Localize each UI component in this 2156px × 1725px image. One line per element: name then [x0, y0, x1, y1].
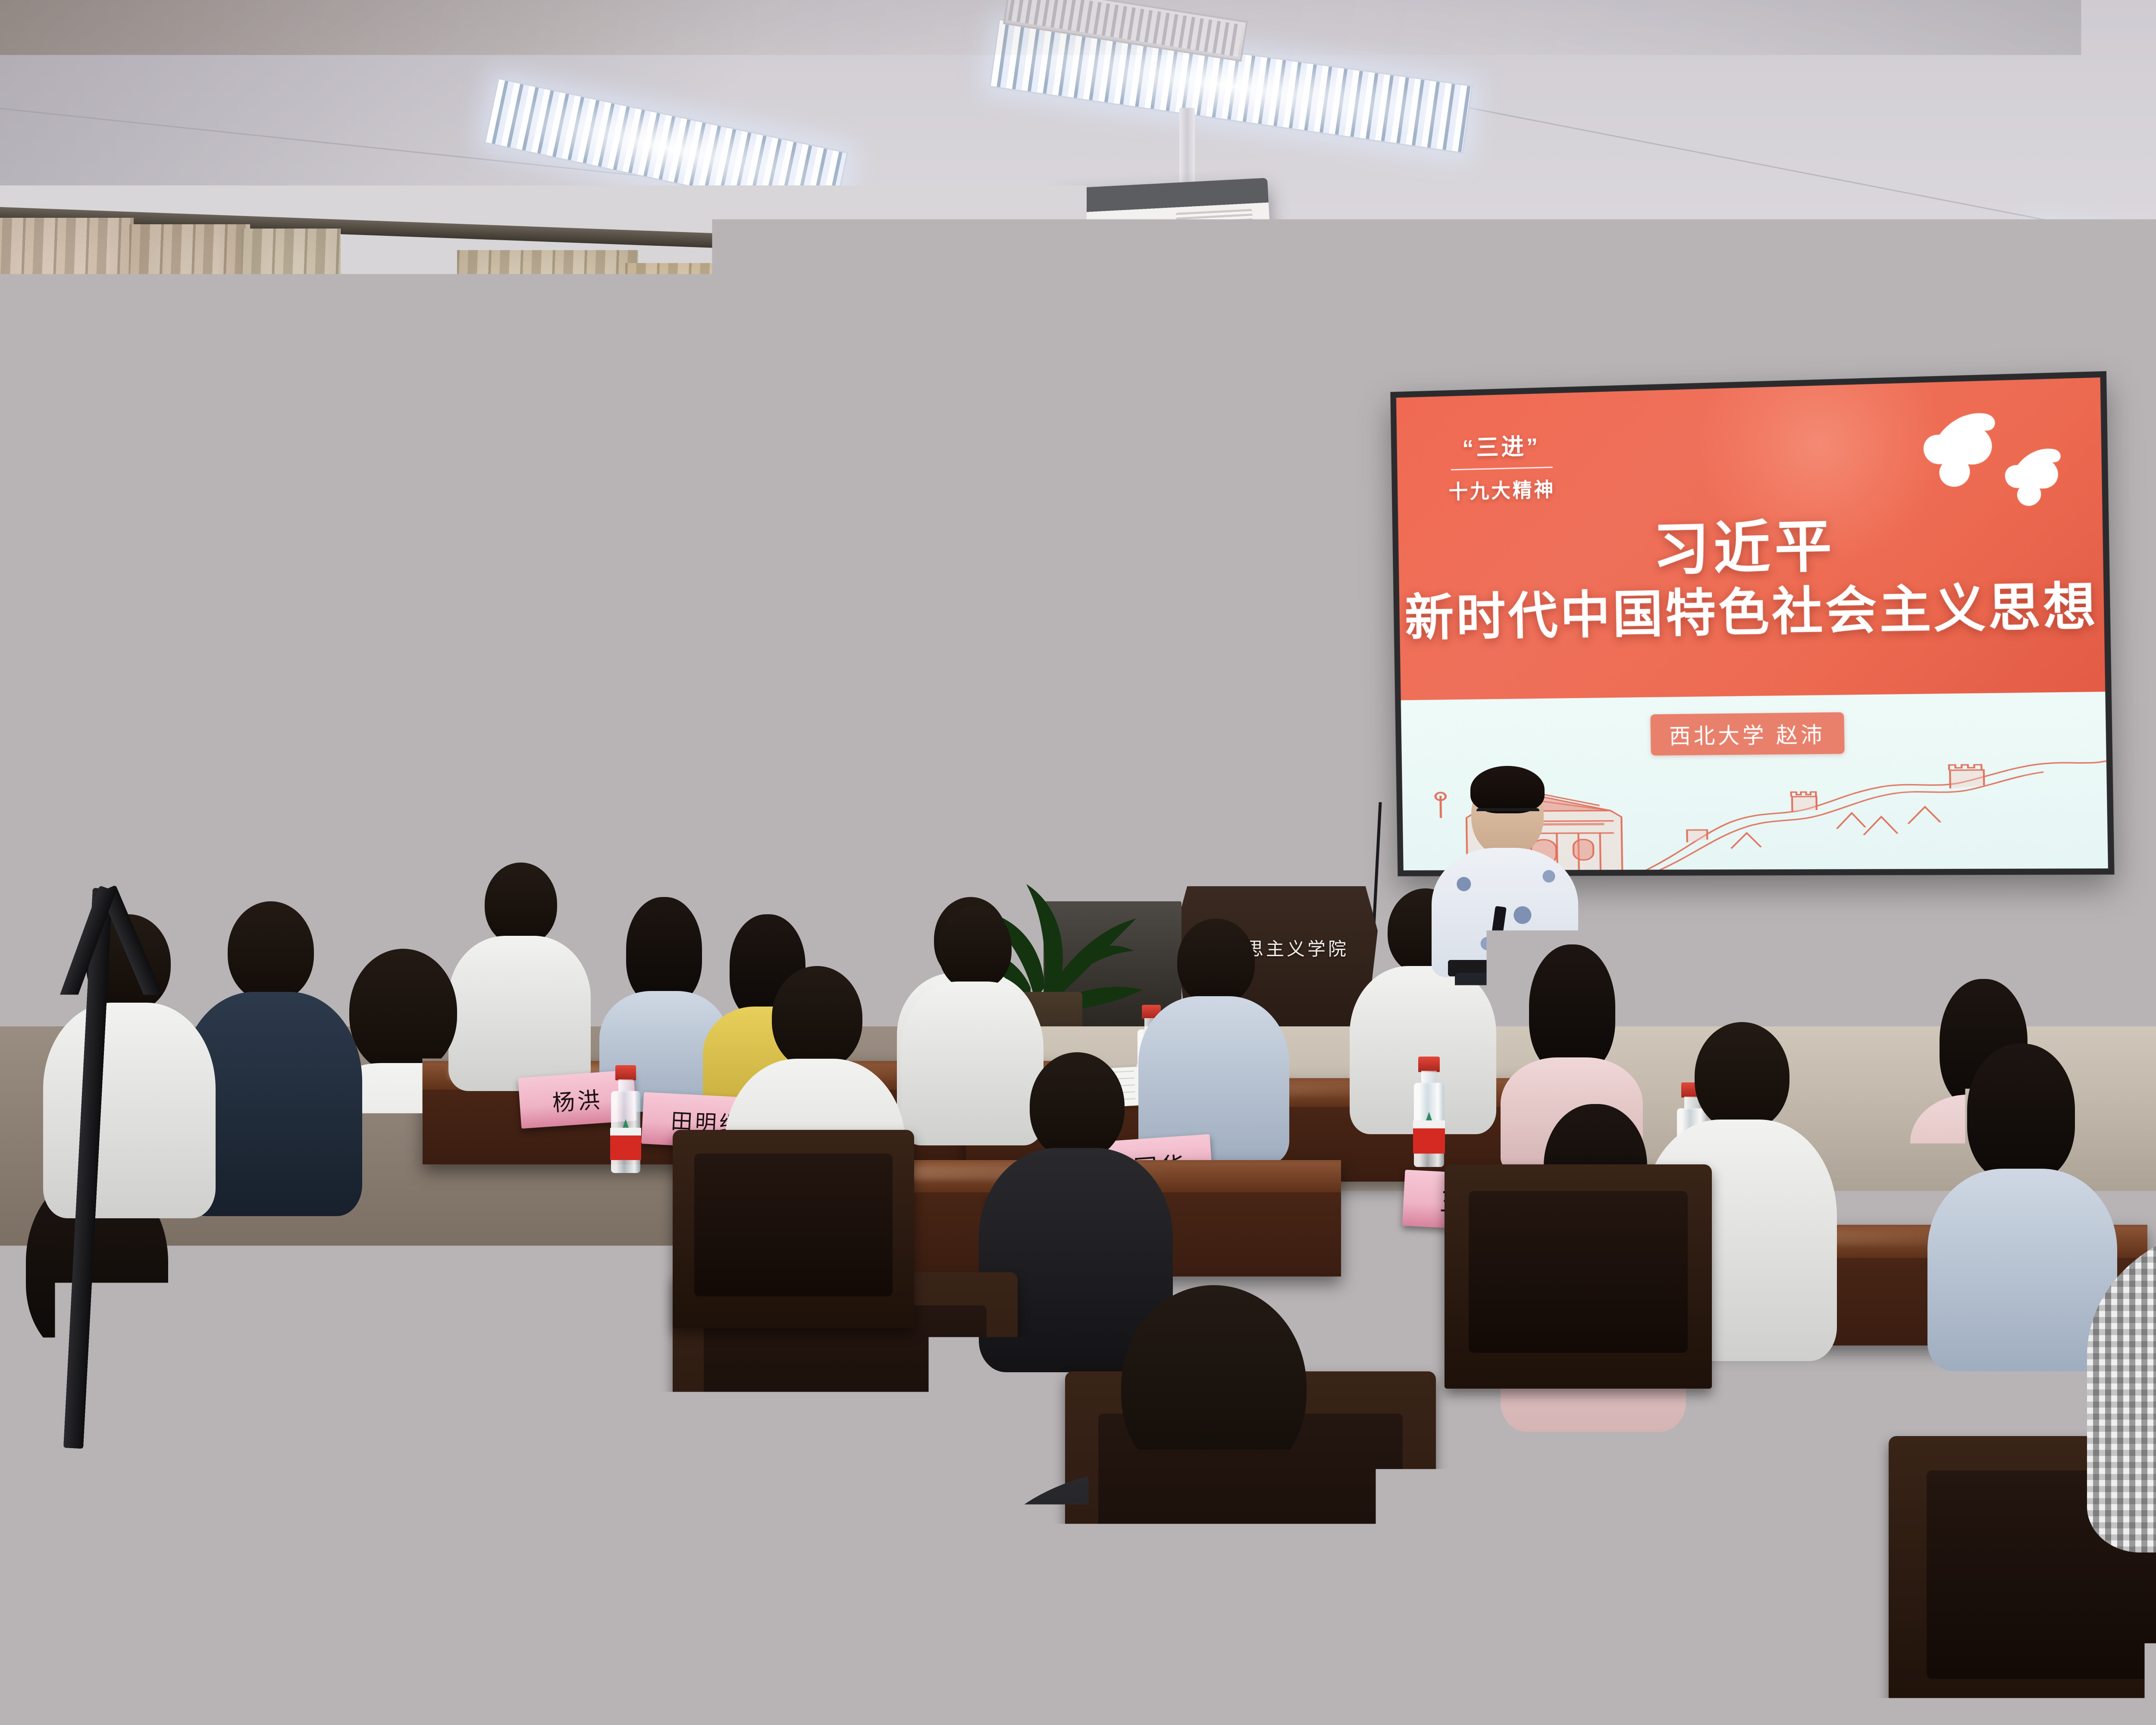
chair[interactable] — [673, 1130, 914, 1328]
attendee-foreground — [0, 1173, 267, 1725]
attendee-foreground — [2087, 1069, 2156, 1544]
lecture-hall-photo: “三进” 十九大精神 习近平 新时代中国特色社会主义思想 西北大学 赵沛 — [0, 0, 2156, 1725]
slide-kicker-rule — [1451, 467, 1553, 470]
tripod-head — [60, 811, 185, 897]
slide-title-line-2: 新时代中国特色社会主义思想 — [1399, 565, 2104, 650]
tea-bottle — [556, 1367, 623, 1540]
glasses-icon — [1476, 808, 1539, 819]
camera-lcd-screen — [110, 639, 185, 698]
record-indicator-icon — [153, 624, 164, 636]
presenter — [1432, 772, 1578, 1082]
presenter-hair — [1470, 766, 1545, 813]
slide-kicker-top: “三进” — [1448, 427, 1555, 463]
attendee-foreground — [979, 1285, 1445, 1725]
camera-lens-icon — [129, 686, 289, 811]
presenter-trousers — [1455, 973, 1557, 1107]
slide-banner: “三进” 十九大精神 习近平 新时代中国特色社会主义思想 — [1396, 377, 2105, 700]
chair[interactable] — [1445, 1164, 1712, 1389]
ceiling-projector — [1056, 178, 1272, 283]
water-bottle — [607, 1065, 644, 1173]
slide-kicker-bottom: 十九大精神 — [1448, 474, 1556, 504]
curtain-panel[interactable] — [241, 229, 341, 988]
slide-kicker: “三进” 十九大精神 — [1448, 427, 1555, 504]
